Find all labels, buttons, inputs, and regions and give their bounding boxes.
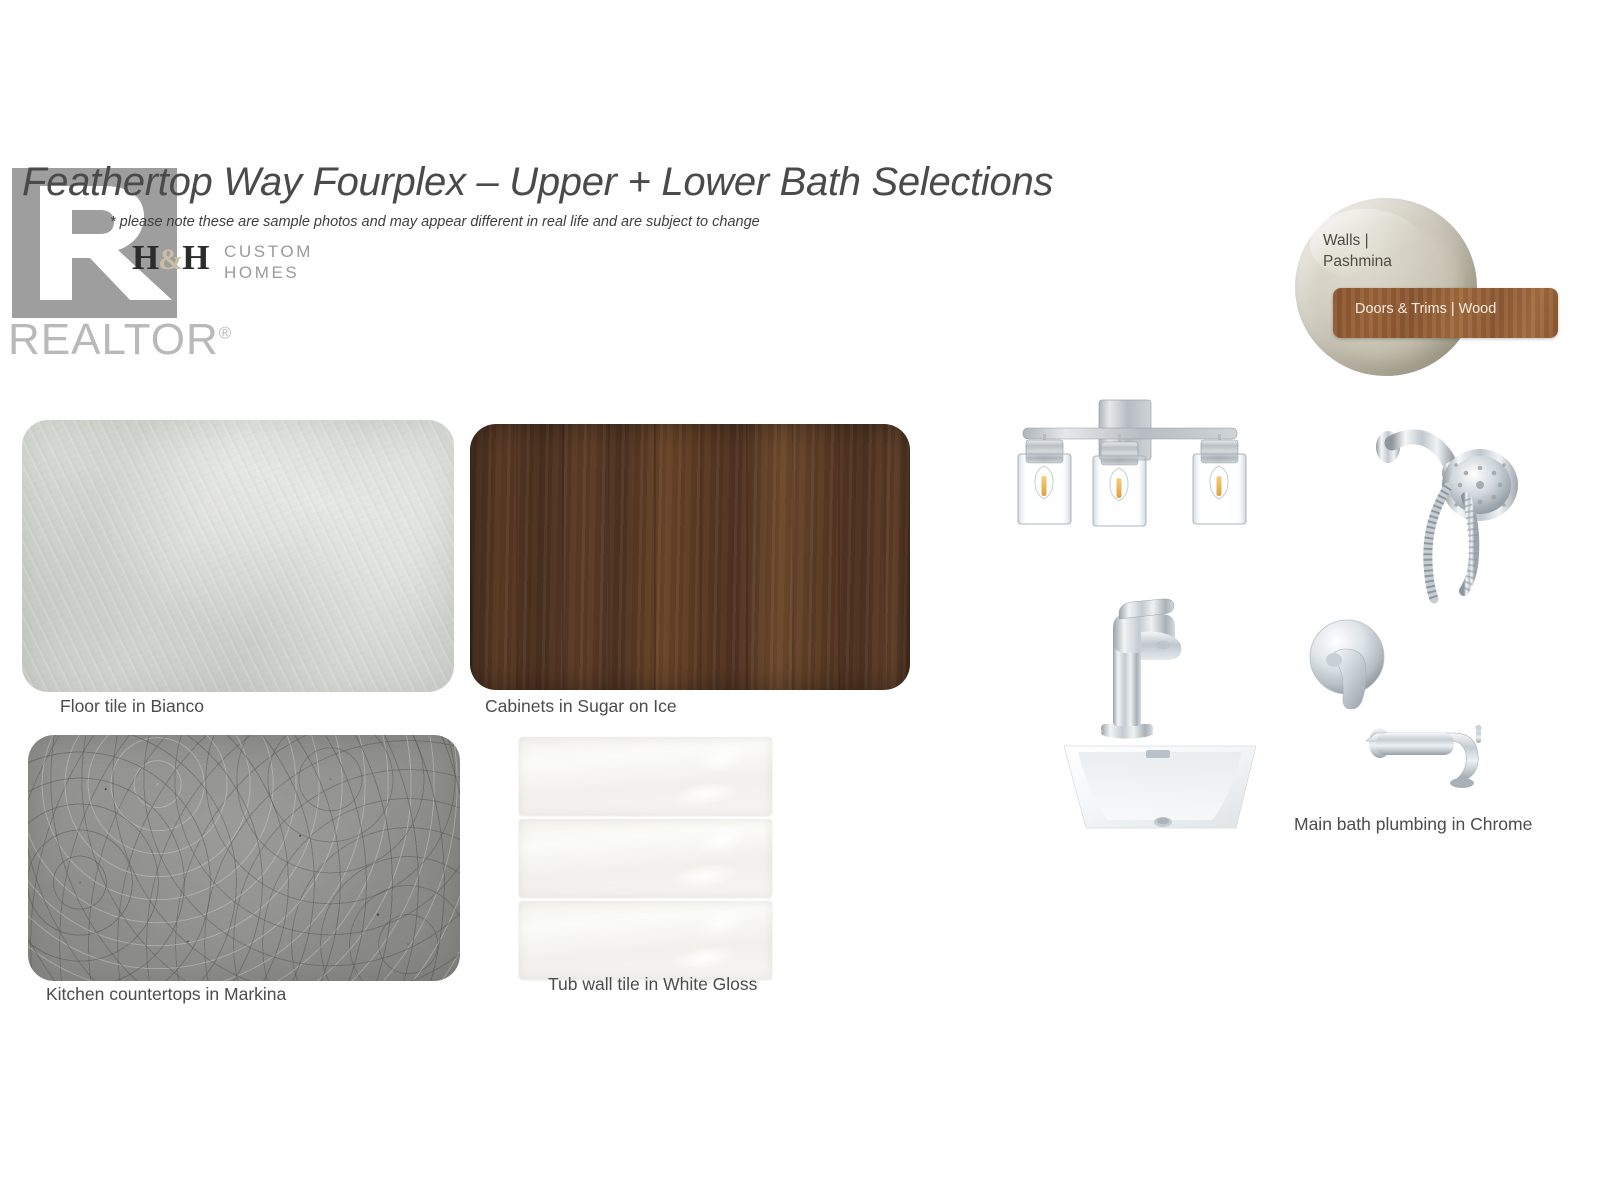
wall-paint-label-line2: Pashmina: [1323, 251, 1392, 272]
page-subtitle: * please note these are sample photos an…: [110, 214, 760, 230]
builder-logo-words: CUSTOM HOMES: [224, 242, 313, 283]
tile-gloss-highlight: [671, 779, 739, 810]
caption-kitchen-countertops: Kitchen countertops in Markina: [46, 984, 286, 1005]
builder-logo-h1: H: [132, 238, 158, 277]
caption-cabinets: Cabinets in Sugar on Ice: [485, 696, 677, 717]
builder-logo-mark: H&H: [132, 240, 208, 275]
doors-trims-chip: Doors & Trims | Wood: [1333, 288, 1558, 338]
swatch-kitchen-countertops: [28, 735, 460, 981]
swatch-tub-tile-2: [519, 819, 772, 897]
builder-logo-line2: HOMES: [224, 263, 313, 284]
realtor-wordmark-text: REALTOR: [8, 315, 219, 364]
shower-valve-trim: [1300, 615, 1400, 725]
swatch-tub-tile-3: [519, 901, 772, 979]
tile-gloss-highlight: [671, 943, 739, 974]
doors-trims-label: Doors & Trims | Wood: [1355, 301, 1496, 317]
tile-gloss-highlight: [671, 861, 739, 892]
tub-spout: [1366, 725, 1506, 793]
wall-paint-label: Walls | Pashmina: [1323, 230, 1392, 273]
wall-paint-blob: [1295, 198, 1477, 376]
page-title: Feathertop Way Fourplex – Upper + Lower …: [22, 160, 1053, 205]
builder-logo-ampersand: &: [158, 243, 182, 276]
swatch-cabinets: [470, 424, 910, 690]
builder-logo: H&H CUSTOM HOMES: [132, 240, 312, 290]
swatch-floor-tile: [22, 420, 454, 692]
tile-gloss-highlight: [693, 738, 750, 777]
registered-mark-icon: ®: [219, 323, 233, 342]
vanity-light-fixture: [975, 392, 1265, 552]
selection-board: REALTOR® Feathertop Way Fourplex – Upper…: [0, 0, 1600, 1200]
caption-tub-wall-tile: Tub wall tile in White Gloss: [548, 974, 757, 995]
builder-logo-line1: CUSTOM: [224, 242, 313, 263]
tile-gloss-highlight: [693, 902, 750, 941]
basin-faucet: [1085, 592, 1215, 742]
builder-logo-h2: H: [182, 238, 208, 277]
tile-gloss-highlight: [693, 820, 750, 859]
caption-plumbing: Main bath plumbing in Chrome: [1294, 814, 1532, 835]
realtor-wordmark: REALTOR®: [8, 318, 232, 362]
caption-floor-tile: Floor tile in Bianco: [60, 696, 204, 717]
swatch-tub-tile-1: [519, 737, 772, 815]
wall-paint-label-line1: Walls |: [1323, 230, 1392, 251]
undermount-sink: [1060, 738, 1260, 834]
